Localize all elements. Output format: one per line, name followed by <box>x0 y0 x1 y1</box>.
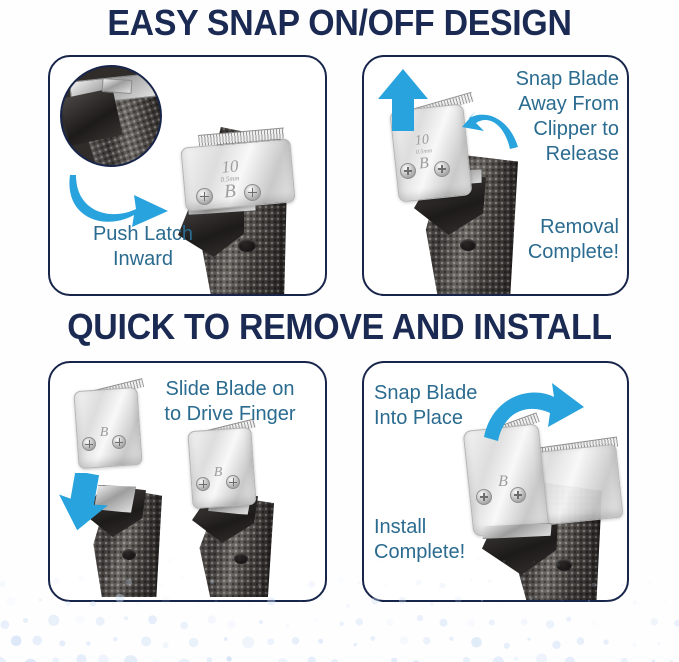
panel-snap-into-place: B Snap Blade Into Place Install Complete… <box>362 361 629 602</box>
blade-screw-right <box>510 487 526 503</box>
blade-left-screw-2 <box>112 435 126 449</box>
blade-screw-left <box>476 489 492 505</box>
blade-engraving-mark: B <box>215 180 245 204</box>
caption-snap-blade-away: Snap Blade Away From Clipper to Release <box>444 67 619 167</box>
blade-right-screw-1 <box>196 477 210 491</box>
caption-slide-blade-on-drive-finger: Slide Blade on to Drive Finger <box>150 377 310 427</box>
clipper-body-port <box>556 559 572 571</box>
infographic-page: EASY SNAP ON/OFF DESIGN 10 0.5mm B <box>0 0 679 662</box>
blade-screw-right <box>244 184 261 201</box>
blade-screw-left <box>196 188 213 205</box>
blade-right-screw-2 <box>226 475 240 489</box>
arrow-slide-down-icon <box>56 473 112 533</box>
latch-detail-inset <box>60 65 162 167</box>
heading-quick-to-remove-and-install: QUICK TO REMOVE AND INSTALL <box>20 308 658 346</box>
panel-slide-blade: B B Slide Blade on to Drive Finger <box>48 361 327 602</box>
caption-push-latch-inward: Push Latch Inward <box>58 222 228 272</box>
panel-push-latch: 10 0.5mm B Push Latch Inward <box>48 55 327 296</box>
arrow-lift-up-icon <box>376 69 430 131</box>
caption-install-complete: Install Complete! <box>374 515 534 565</box>
clipper-body-right-port <box>234 553 248 564</box>
clipper-body-port <box>238 239 256 252</box>
panel-snap-blade-away: 10 0.5mm B Snap Blade Away From Clipper … <box>362 55 629 296</box>
blade-left-screw-1 <box>82 437 96 451</box>
heading-easy-snap-on-off-design: EASY SNAP ON/OFF DESIGN <box>20 4 658 42</box>
caption-removal-complete: Removal Complete! <box>444 215 619 265</box>
clipper-body-left-port <box>122 549 136 560</box>
blade-screw-left <box>400 163 416 179</box>
caption-snap-blade-into-place: Snap Blade Into Place <box>374 381 534 431</box>
inset-latch-pin <box>102 78 133 94</box>
